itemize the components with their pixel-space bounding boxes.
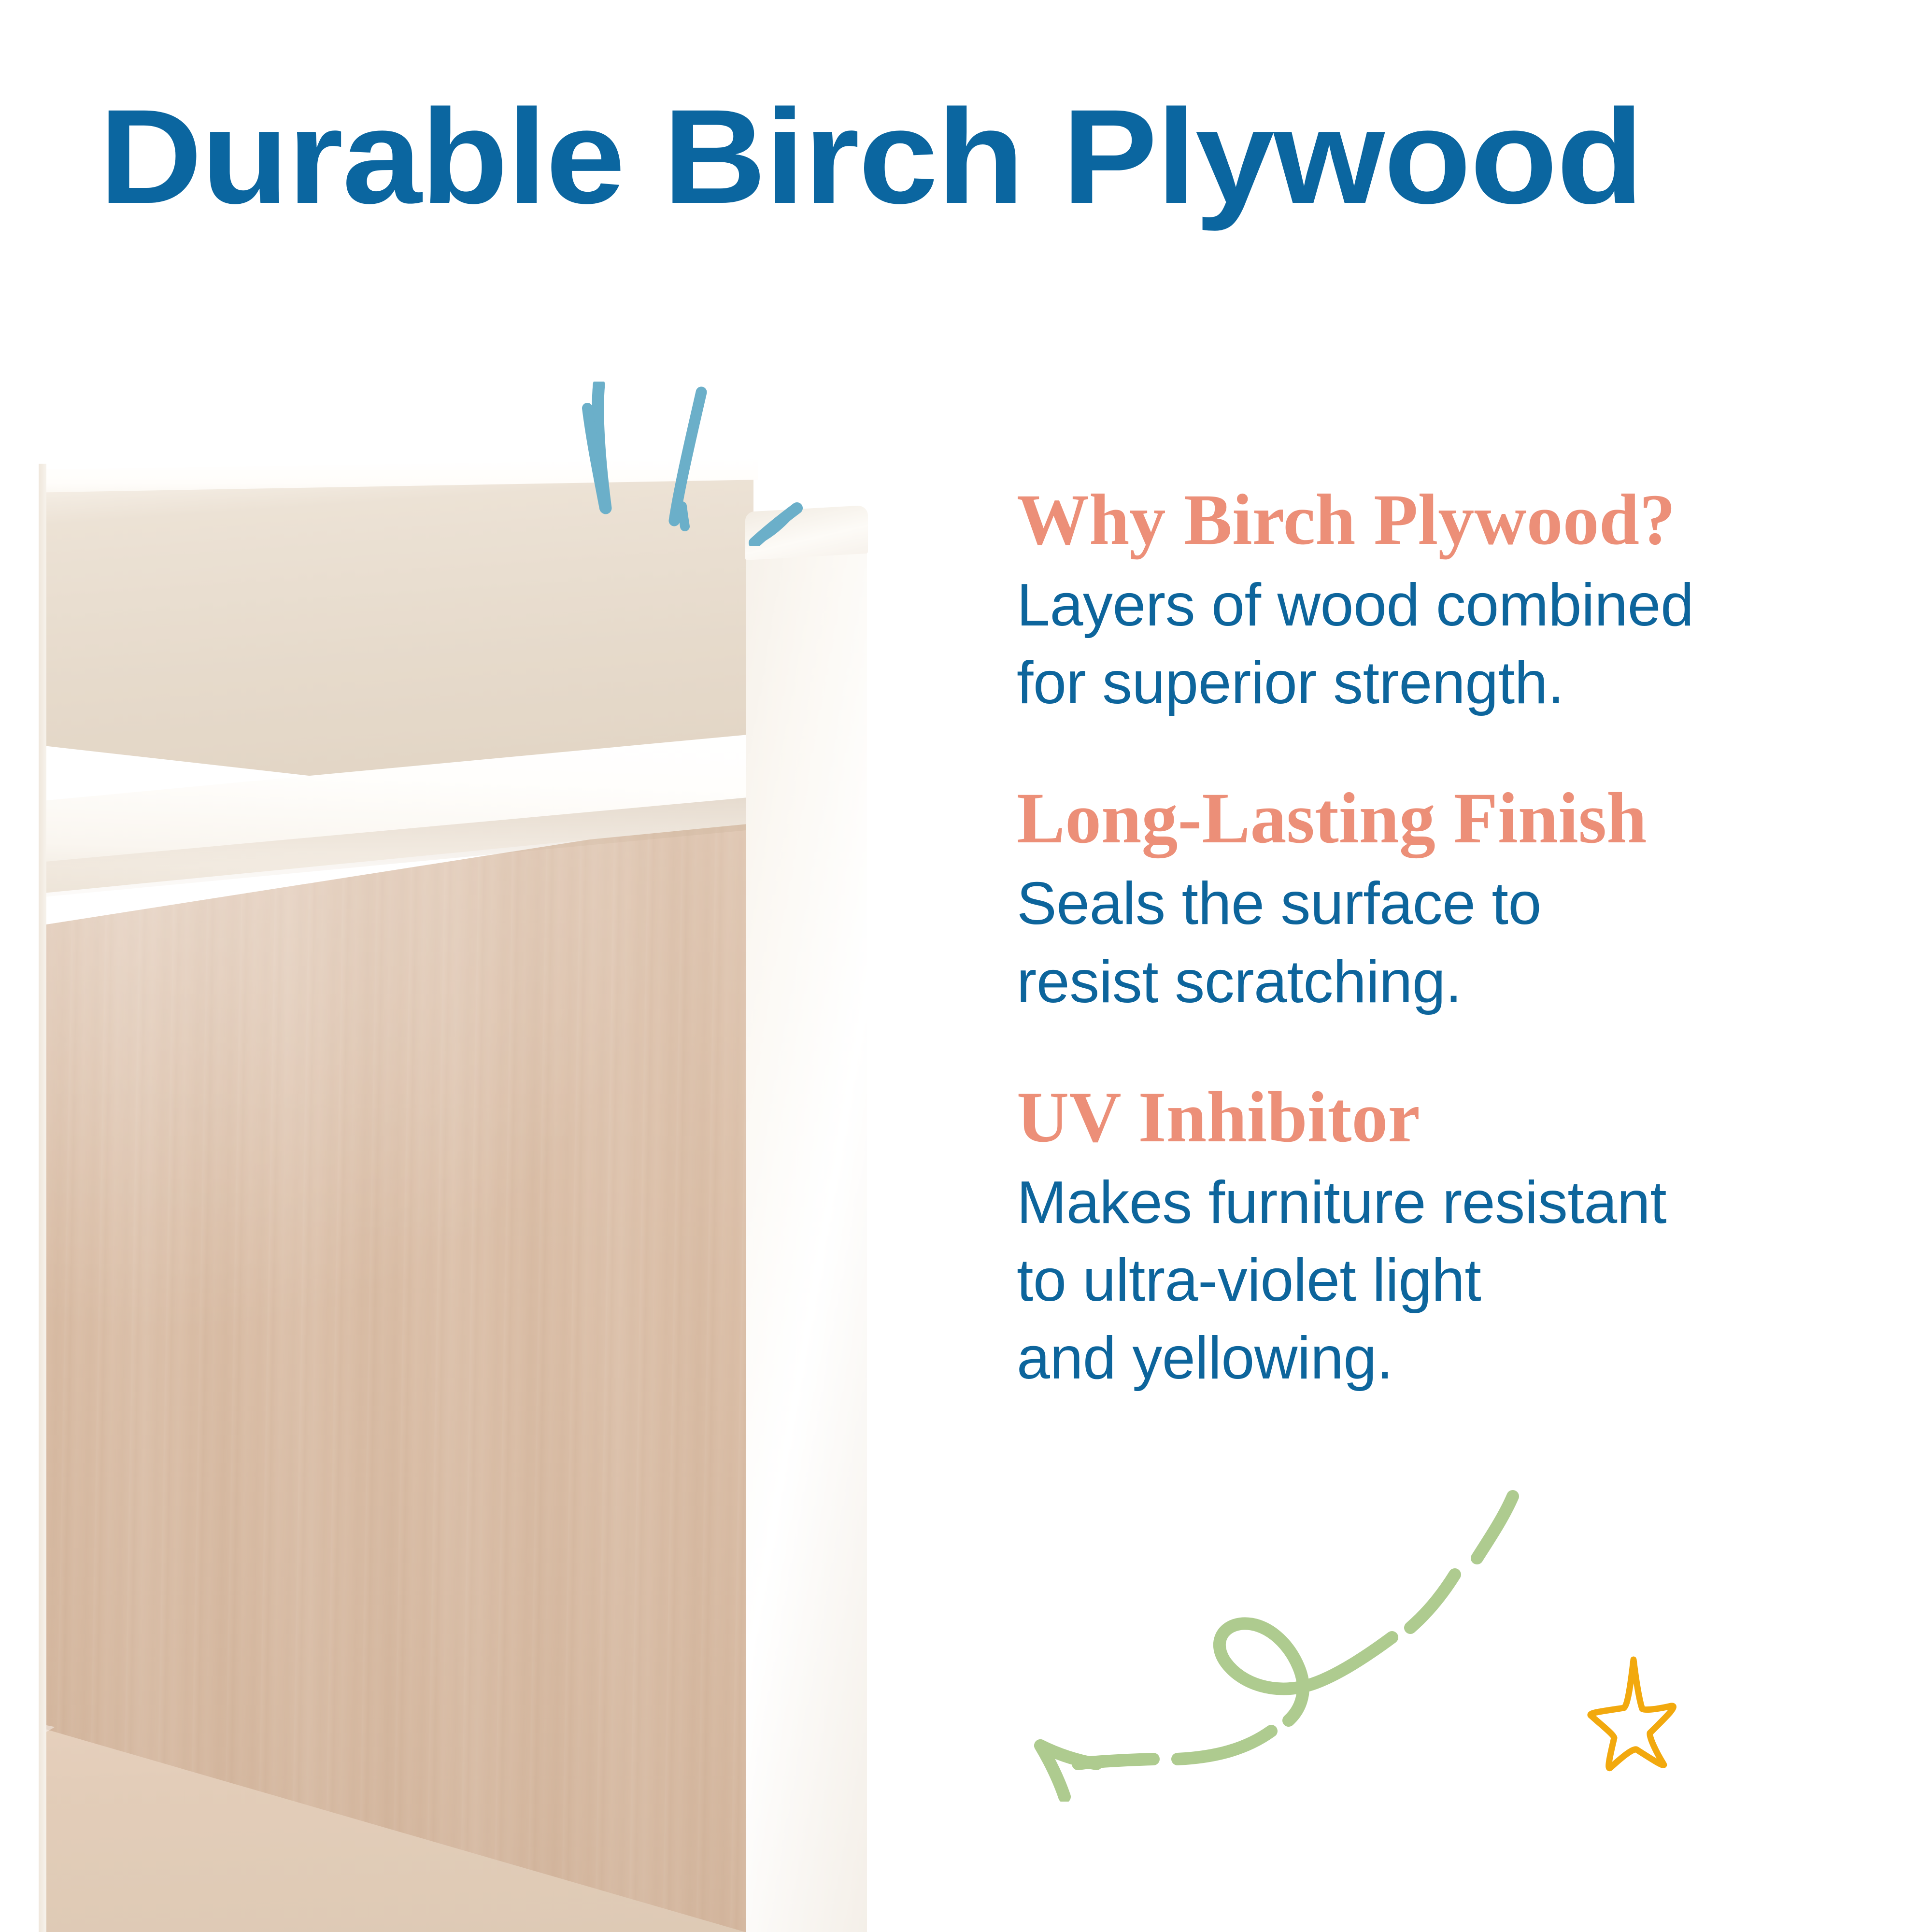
feature-body-line: resist scratching. [1017,943,1867,1021]
feature-body-line: Layers of wood combined [1017,567,1867,644]
feature-item: Why Birch Plywood? Layers of wood combin… [1017,481,1867,722]
page-title: Durable Birch Plywood [99,89,1932,224]
curly-arrow-left-icon [1024,1415,1521,1802]
feature-body-line: Seals the surface to [1017,865,1867,943]
star-outline-icon [1579,1642,1739,1797]
feature-heading: Long-Lasting Finish [1017,779,1867,857]
feature-body: Layers of wood combined for superior str… [1017,567,1867,722]
feature-list: Why Birch Plywood? Layers of wood combin… [1017,481,1867,1397]
product-photo [0,459,874,1932]
shelf-side-panel-top-edge [745,505,868,560]
feature-body-line: for superior strength. [1017,644,1867,722]
infographic-page: Durable Birch Plywood [0,0,1932,1932]
shelf-side-panel [746,536,867,1932]
shelf-left-edge [39,464,46,1932]
feature-item: UV Inhibitor Makes furniture resistant t… [1017,1078,1867,1398]
feature-item: Long-Lasting Finish Seals the surface to… [1017,779,1867,1021]
feature-body-line: Makes furniture resistant [1017,1164,1867,1242]
feature-body: Seals the surface to resist scratching. [1017,865,1867,1021]
feature-body: Makes furniture resistant to ultra-viole… [1017,1164,1867,1398]
feature-body-line: to ultra-violet light [1017,1242,1867,1320]
feature-heading: Why Birch Plywood? [1017,481,1867,559]
feature-body-line: and yellowing. [1017,1320,1867,1397]
feature-heading: UV Inhibitor [1017,1078,1867,1156]
